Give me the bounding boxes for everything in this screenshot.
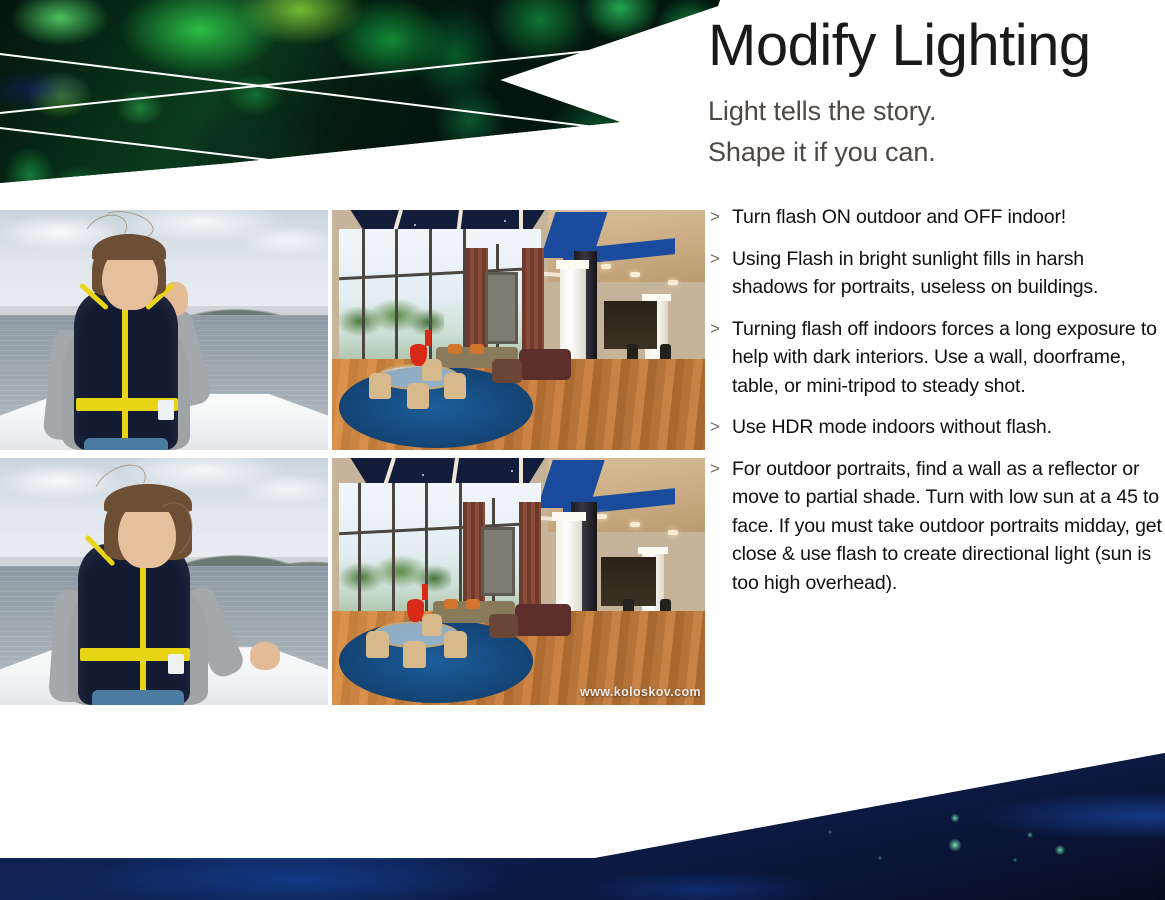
dining-chair: [422, 614, 442, 636]
dining-chair: [403, 641, 426, 668]
chevron-right-icon: >: [710, 315, 732, 343]
red-vase-neck: [422, 584, 428, 600]
bullet-text: For outdoor portraits, find a wall as a …: [732, 455, 1162, 598]
leather-sofa: [519, 349, 571, 380]
ceiling-light: [601, 264, 611, 269]
vest-zipper: [140, 560, 146, 700]
ceiling-light: [630, 272, 640, 277]
column-capital: [638, 547, 668, 554]
subtitle-line-1: Light tells the story.: [708, 91, 1158, 132]
jeans: [92, 690, 184, 705]
bar-area: [604, 301, 656, 349]
leather-sofa: [515, 604, 571, 636]
pillow: [466, 599, 480, 609]
side-chest: [489, 614, 519, 639]
ceiling-light: [668, 280, 678, 285]
pillow: [448, 344, 462, 354]
ceiling-light: [668, 530, 678, 535]
dining-chair: [369, 373, 391, 399]
top-decorative-graphic: [0, 0, 720, 200]
curtain-right: [519, 502, 541, 606]
dome-star: [422, 474, 424, 476]
fireplace: [485, 272, 519, 344]
photo-hotel-lobby-lower: www.koloskov.com: [332, 458, 705, 705]
dome-star: [504, 220, 506, 222]
boat-scene: [0, 458, 328, 705]
slide-header: Modify Lighting Light tells the story. S…: [708, 16, 1158, 173]
window-mullion: [429, 229, 432, 368]
lobby-scene: [332, 210, 705, 450]
column-capital: [556, 260, 590, 269]
column-capital: [642, 294, 672, 301]
window-mullion: [425, 483, 428, 621]
bottom-decorative-graphic: [0, 740, 1165, 900]
vest-badge: [168, 654, 184, 674]
subtitle-line-2: Shape it if you can.: [708, 132, 1158, 173]
window-mullion: [392, 483, 395, 621]
photo-girl-lifevest-smiling: [0, 458, 328, 705]
life-vest: [78, 544, 190, 705]
side-chest: [492, 359, 522, 383]
bullet-list: > Turn flash ON outdoor and OFF indoor! …: [710, 203, 1162, 610]
chevron-right-icon: >: [710, 413, 732, 441]
window-mullion: [395, 229, 398, 368]
fireplace: [481, 527, 515, 596]
dining-chair: [444, 631, 467, 658]
vest-zipper: [122, 306, 128, 442]
hand: [250, 642, 280, 670]
list-item: > Turning flash off indoors forces a lon…: [710, 315, 1162, 401]
window-mullion: [362, 229, 365, 368]
list-item: > Turn flash ON outdoor and OFF indoor!: [710, 203, 1162, 232]
column-capital: [552, 512, 586, 521]
ceiling-light: [597, 514, 607, 519]
curtain-right: [522, 248, 544, 354]
trees-outside: [339, 542, 451, 601]
chevron-right-icon: >: [710, 203, 732, 231]
pillow: [470, 344, 484, 354]
bullet-text: Use HDR mode indoors without flash.: [732, 413, 1162, 442]
dining-chair: [444, 373, 466, 399]
list-item: > For outdoor portraits, find a wall as …: [710, 455, 1162, 598]
list-item: > Using Flash in bright sunlight fills i…: [710, 245, 1162, 302]
photo-girl-lifevest-waving: [0, 210, 328, 450]
subtitle-block: Light tells the story. Shape it if you c…: [708, 91, 1158, 173]
vest-badge: [158, 400, 174, 420]
jeans: [84, 438, 168, 450]
facet-shard-c: [0, 860, 600, 900]
boat-scene: [0, 210, 328, 450]
lobby-scene: www.koloskov.com: [332, 458, 705, 705]
bullet-text: Using Flash in bright sunlight fills in …: [732, 245, 1162, 302]
chevron-right-icon: >: [710, 455, 732, 483]
window-mullion: [459, 483, 462, 621]
dome-star: [511, 470, 513, 472]
red-vase: [407, 599, 424, 622]
page-title: Modify Lighting: [708, 16, 1158, 77]
dining-chair: [407, 383, 429, 409]
chevron-right-icon: >: [710, 245, 732, 273]
dining-chair: [366, 631, 389, 658]
red-vase-neck: [425, 330, 431, 346]
bullet-text: Turning flash off indoors forces a long …: [732, 315, 1162, 401]
bullet-text: Turn flash ON outdoor and OFF indoor!: [732, 203, 1162, 232]
bottom-graphic-clip: [0, 740, 1165, 900]
pillow: [444, 599, 458, 609]
list-item: > Use HDR mode indoors without flash.: [710, 413, 1162, 442]
photo-watermark: www.koloskov.com: [580, 685, 701, 699]
photo-hotel-lobby-upper: [332, 210, 705, 450]
ceiling-light: [630, 522, 640, 527]
window-mullion: [358, 483, 361, 621]
